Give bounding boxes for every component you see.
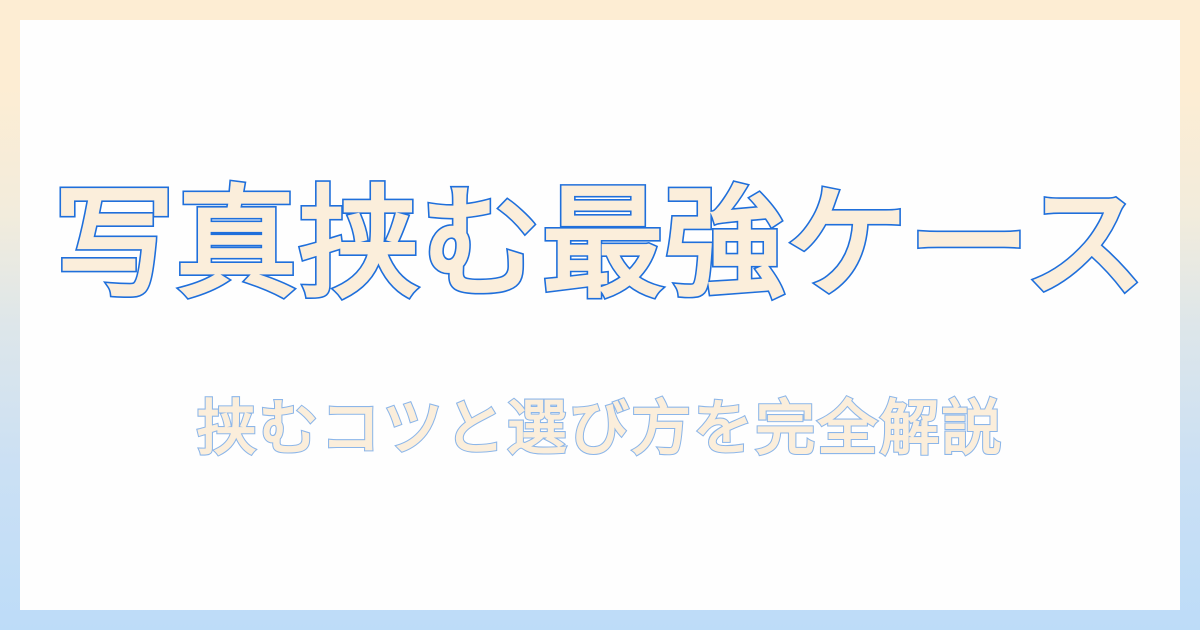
page-title: 写真挟む最強ケース bbox=[54, 183, 1147, 307]
page-subtitle: 挟むコツと選び方を完全解説 bbox=[196, 390, 1003, 468]
thumbnail-card: 写真挟む最強ケース 挟むコツと選び方を完全解説 bbox=[0, 0, 1200, 630]
content-panel: 写真挟む最強ケース 挟むコツと選び方を完全解説 bbox=[20, 20, 1180, 610]
subtitle-container: 挟むコツと選び方を完全解説 bbox=[20, 390, 1180, 468]
title-container: 写真挟む最強ケース bbox=[20, 183, 1180, 307]
